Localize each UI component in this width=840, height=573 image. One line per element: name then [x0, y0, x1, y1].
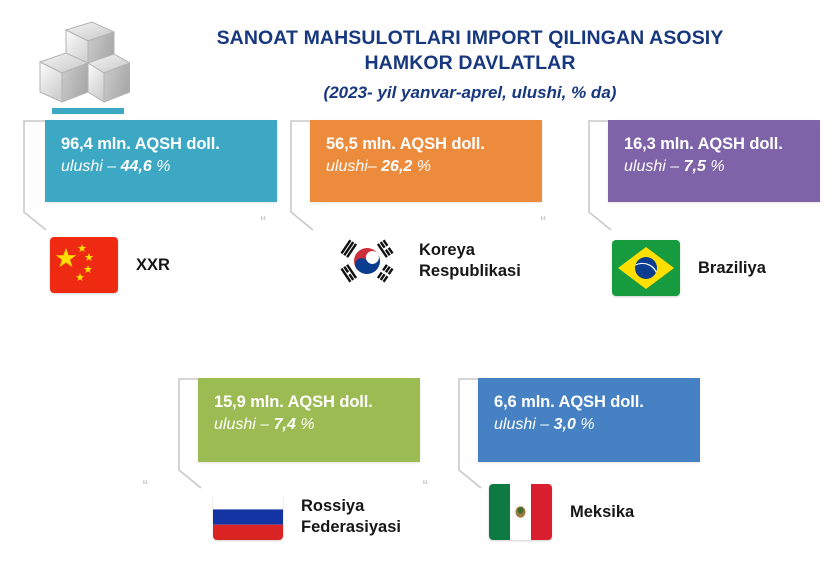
country-row-russia[interactable]: Rossiya Federasiyasi: [213, 494, 401, 540]
share-label-mexico: ulushi –: [494, 416, 549, 433]
flag-russia-icon: [213, 494, 283, 540]
quote-mark-mexico: “: [422, 478, 429, 491]
share-value-mexico: 3,0: [554, 416, 576, 433]
value-box-mexico[interactable]: 6,6 mln. AQSH doll. ulushi – 3,0 %: [478, 378, 700, 462]
quote-mark-xxr: “: [260, 214, 267, 227]
country-row-korea[interactable]: Koreya Respublikasi: [333, 232, 521, 290]
share-label-korea: ulushi–: [326, 158, 377, 175]
share-label-brazil: ulushi –: [624, 158, 679, 175]
stacked-cubes-icon: [30, 18, 130, 114]
country-name-brazil: Braziliya: [698, 258, 766, 279]
flag-china-icon: [50, 237, 118, 293]
flag-brazil-icon: [612, 240, 680, 296]
page-title: SANOAT MAHSULOTLARI IMPORT QILINGAN ASOS…: [140, 26, 800, 105]
title-line-2: HAMKOR DAVLATLAR: [140, 51, 800, 76]
value-box-russia[interactable]: 15,9 mln. AQSH doll. ulushi – 7,4 %: [198, 378, 420, 462]
amount-korea: 56,5 mln. AQSH doll.: [326, 134, 542, 154]
infographic-canvas: SANOAT MAHSULOTLARI IMPORT QILINGAN ASOS…: [0, 0, 840, 573]
country-row-xxr[interactable]: XXR: [50, 237, 170, 293]
share-russia: ulushi – 7,4 %: [214, 414, 420, 436]
quote-mark-russia: “: [142, 478, 149, 491]
value-box-xxr[interactable]: 96,4 mln. AQSH doll. ulushi – 44,6 %: [45, 120, 277, 202]
share-value-russia: 7,4: [274, 416, 296, 433]
share-value-brazil: 7,5: [684, 158, 706, 175]
share-value-xxr: 44,6: [121, 158, 152, 175]
quote-mark-korea: “: [540, 214, 547, 227]
country-name-korea: Koreya Respublikasi: [419, 240, 521, 282]
amount-russia: 15,9 mln. AQSH doll.: [214, 392, 420, 412]
share-korea: ulushi– 26,2 %: [326, 156, 542, 178]
share-label-xxr: ulushi –: [61, 158, 116, 175]
title-line-1: SANOAT MAHSULOTLARI IMPORT QILINGAN ASOS…: [140, 26, 800, 51]
share-xxr: ulushi – 44,6 %: [61, 156, 277, 178]
flag-south-korea-icon: [333, 232, 401, 290]
share-value-korea: 26,2: [381, 158, 412, 175]
country-name-mexico: Meksika: [570, 502, 634, 523]
country-name-russia: Rossiya Federasiyasi: [301, 496, 401, 538]
value-box-korea[interactable]: 56,5 mln. AQSH doll. ulushi– 26,2 %: [310, 120, 542, 202]
share-unit-xxr: %: [156, 158, 170, 175]
share-unit-brazil: %: [710, 158, 724, 175]
country-name-xxr: XXR: [136, 255, 170, 276]
title-subtitle: (2023- yil yanvar-aprel, ulushi, % da): [140, 80, 800, 105]
flag-mexico-icon: [489, 484, 552, 540]
value-box-brazil[interactable]: 16,3 mln. AQSH doll. ulushi – 7,5 %: [608, 120, 820, 202]
share-mexico: ulushi – 3,0 %: [494, 414, 700, 436]
share-unit-mexico: %: [580, 416, 594, 433]
country-row-mexico[interactable]: Meksika: [489, 484, 634, 540]
amount-brazil: 16,3 mln. AQSH doll.: [624, 134, 820, 154]
country-row-brazil[interactable]: Braziliya: [612, 240, 766, 296]
amount-xxr: 96,4 mln. AQSH doll.: [61, 134, 277, 154]
share-brazil: ulushi – 7,5 %: [624, 156, 820, 178]
amount-mexico: 6,6 mln. AQSH doll.: [494, 392, 700, 412]
share-unit-russia: %: [300, 416, 314, 433]
share-unit-korea: %: [417, 158, 431, 175]
share-label-russia: ulushi –: [214, 416, 269, 433]
